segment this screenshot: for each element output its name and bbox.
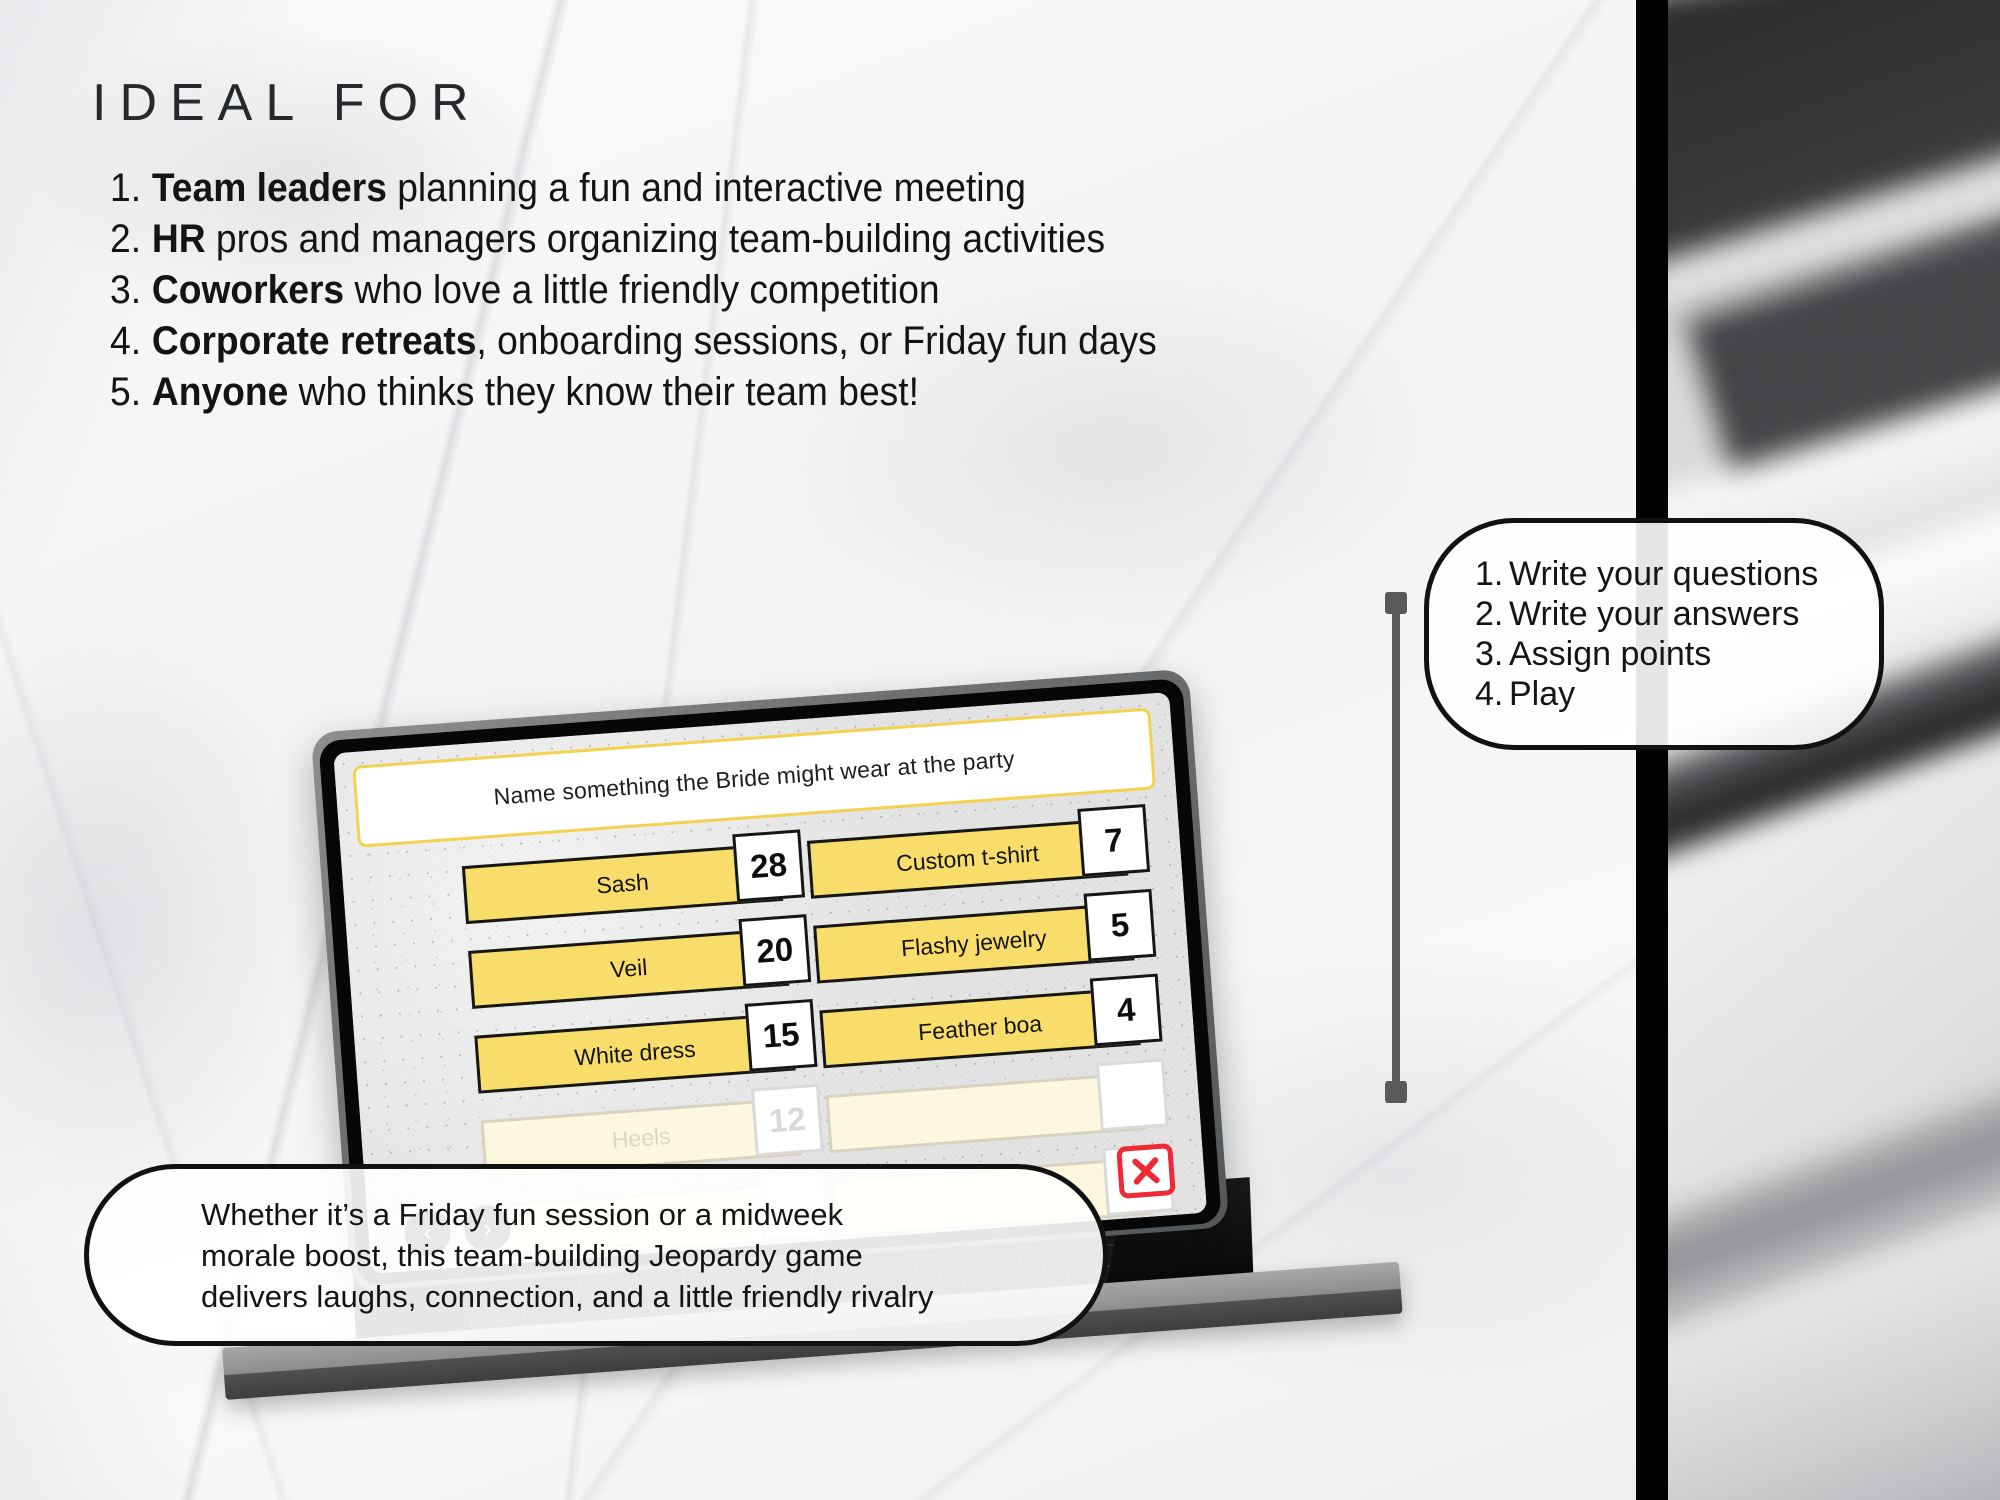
answer-score: 7 — [1077, 804, 1150, 877]
vertical-slider[interactable] — [1392, 600, 1400, 1095]
step-item: Write your questions — [1475, 554, 1818, 594]
answer-row[interactable]: Custom t-shirt 7 — [806, 810, 1128, 899]
list-item: Anyone who thinks they know their team b… — [110, 367, 1412, 418]
question-text: Name something the Bride might wear at t… — [477, 744, 1032, 812]
list-item-rest: , onboarding sessions, or Friday fun day… — [476, 319, 1156, 363]
laptop-photo-background — [1668, 0, 2000, 1500]
steps-callout: Write your questions Write your answers … — [1424, 518, 1884, 750]
steps-list: Write your questions Write your answers … — [1429, 554, 1818, 714]
close-icon — [1130, 1155, 1162, 1187]
list-item: Team leaders planning a fun and interact… — [110, 163, 1412, 214]
list-item-rest: who thinks they know their team best! — [288, 370, 919, 414]
list-item: Coworkers who love a little friendly com… — [110, 265, 1412, 316]
answer-score: 28 — [732, 829, 805, 902]
list-item-bold: Corporate retreats — [152, 319, 477, 363]
answer-score: 20 — [738, 914, 811, 987]
slide-root: IDEAL FOR Team leaders planning a fun an… — [0, 0, 2000, 1500]
blurb-callout: Whether it’s a Friday fun session or a m… — [84, 1164, 1108, 1346]
answer-row[interactable]: Veil 20 — [467, 920, 789, 1009]
answer-row[interactable]: Flashy jewelry 5 — [813, 894, 1135, 983]
list-item-bold: Anyone — [152, 370, 288, 414]
slider-handle-bottom[interactable] — [1385, 1081, 1407, 1103]
answer-score: 5 — [1084, 889, 1157, 962]
answer-row[interactable]: White dress 15 — [474, 1005, 796, 1094]
answer-score: 12 — [751, 1084, 824, 1157]
answer-score — [1096, 1058, 1169, 1131]
list-item-bold: Coworkers — [152, 268, 344, 312]
list-item-rest: who love a little friendly competition — [344, 268, 939, 312]
ideal-for-list: Team leaders planning a fun and interact… — [110, 163, 1510, 418]
step-item: Write your answers — [1475, 594, 1818, 634]
page-title: IDEAL FOR — [92, 73, 482, 133]
close-button[interactable] — [1116, 1143, 1176, 1199]
step-item: Play — [1475, 674, 1818, 714]
answer-row[interactable]: Sash 28 — [461, 835, 783, 924]
answer-score: 15 — [745, 999, 818, 1072]
answer-row[interactable] — [825, 1064, 1147, 1153]
blurb-text: Whether it’s a Friday fun session or a m… — [89, 1194, 933, 1317]
answer-row[interactable]: Feather boa 4 — [819, 979, 1141, 1068]
list-item-bold: HR — [152, 217, 206, 261]
answer-score: 4 — [1090, 974, 1163, 1047]
step-item: Assign points — [1475, 634, 1818, 674]
list-item-rest: planning a fun and interactive meeting — [387, 166, 1026, 210]
divider-band — [1636, 0, 1668, 1500]
list-item-rest: pros and managers organizing team-buildi… — [206, 217, 1105, 261]
list-item-bold: Team leaders — [152, 166, 387, 210]
list-item: HR pros and managers organizing team-bui… — [110, 214, 1412, 265]
slider-handle-top[interactable] — [1385, 592, 1407, 614]
list-item: Corporate retreats, onboarding sessions,… — [110, 316, 1412, 367]
